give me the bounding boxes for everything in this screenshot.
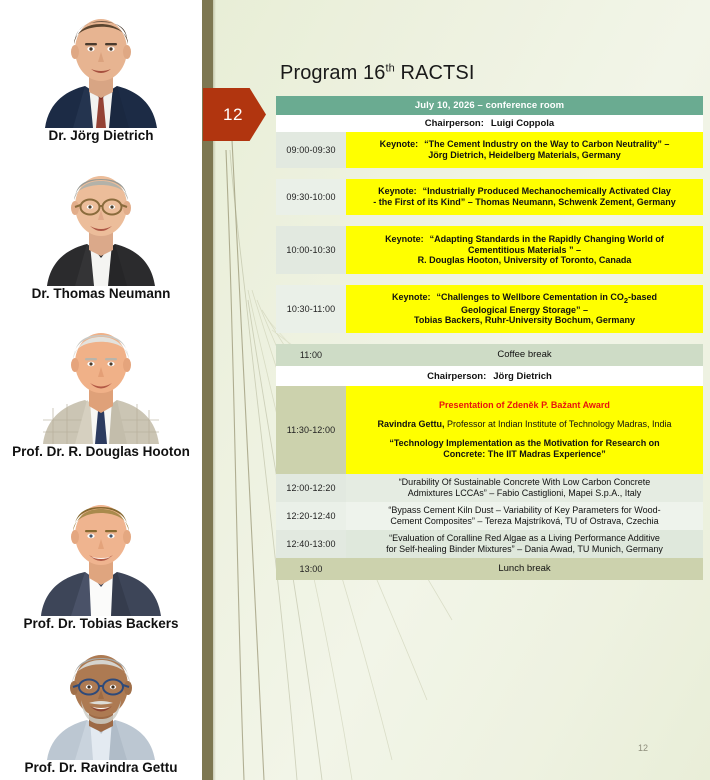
- time-cell: 12:20-12:40: [276, 502, 346, 530]
- portrait-tobias-backers: [33, 488, 169, 616]
- session-line-1: “The Cement Industry on the Way to Carbo…: [424, 139, 669, 149]
- time-cell: 10:30-11:00: [276, 285, 346, 333]
- time-cell: 11:00: [276, 344, 346, 366]
- row-spacer: [276, 168, 703, 179]
- session-line-1-end: -based: [628, 292, 657, 302]
- time-cell: 09:30-10:00: [276, 179, 346, 215]
- chairperson-1-name: Luigi Coppola: [491, 118, 554, 129]
- slide-number-badge-label: 12: [223, 105, 243, 125]
- slide-canvas: 12 Program 16th RACTSI July 10, 2026 – c…: [0, 0, 710, 780]
- time-cell: 11:30-12:00: [276, 386, 346, 474]
- table-row: 12:00-12:20 “Durability Of Sustainable C…: [276, 474, 703, 502]
- chairperson-1-cell: Chairperson:Luigi Coppola: [276, 115, 703, 132]
- speaker-column: Dr. Jörg Dietrich: [0, 0, 202, 780]
- session-line-1: “Industrially Produced Mechanochemically…: [423, 186, 671, 196]
- speaker-name: Prof. Dr. Tobias Backers: [0, 616, 202, 631]
- award-person-name: Ravindra Gettu,: [378, 419, 445, 429]
- portrait-thomas-neumann: [33, 158, 169, 286]
- talk-line-2: for Self-healing Binder Mixtures” – Dani…: [386, 544, 663, 554]
- table-row-day-header: July 10, 2026 – conference room: [276, 96, 703, 115]
- award-talk-line-2: Concrete: The IIT Madras Experience”: [443, 449, 606, 459]
- chairperson-label: Chairperson:: [425, 118, 484, 129]
- speaker-name: Prof. Dr. R. Douglas Hooton: [0, 444, 202, 459]
- talk-line-2: Admixtures LCCAs” – Fabio Castiglioni, M…: [408, 488, 642, 498]
- table-row-coffee-break: 11:00 Coffee break: [276, 344, 703, 366]
- table-row-award: 11:30-12:00 Presentation of Zdeněk P. Ba…: [276, 386, 703, 474]
- time-cell: 13:00: [276, 558, 346, 580]
- speaker-name: Prof. Dr. Ravindra Gettu: [0, 760, 202, 775]
- award-talk-line-1: “Technology Implementation as the Motiva…: [389, 438, 659, 448]
- speaker-name: Dr. Jörg Dietrich: [0, 128, 202, 143]
- session-line-2: Cementitious Materials ” –: [468, 245, 581, 255]
- talk-cell: “Durability Of Sustainable Concrete With…: [346, 474, 703, 502]
- table-row: 12:40-13:00 “Evaluation of Coralline Red…: [276, 530, 703, 558]
- speaker-card: Prof. Dr. Ravindra Gettu: [0, 642, 202, 775]
- session-cell: Keynote:“The Cement Industry on the Way …: [346, 132, 703, 168]
- chairperson-2-cell: Chairperson:Jörg Dietrich: [276, 366, 703, 386]
- award-cell: Presentation of Zdeněk P. Bažant Award R…: [346, 386, 703, 474]
- keynote-label: Keynote:: [380, 139, 419, 150]
- page-number: 12: [638, 743, 648, 753]
- chairperson-2-name: Jörg Dietrich: [493, 371, 552, 382]
- session-cell: Keynote:“Challenges to Wellbore Cementat…: [346, 285, 703, 333]
- page-title: Program 16th RACTSI: [280, 62, 474, 85]
- keynote-label: Keynote:: [385, 234, 424, 245]
- row-spacer: [276, 215, 703, 226]
- portrait-ravindra-gettu: [33, 642, 169, 760]
- page-title-ordinal: th: [386, 62, 395, 74]
- award-person: Ravindra Gettu, Professor at Indian Inst…: [354, 419, 695, 430]
- table-row: 10:00-10:30 Keynote:“Adapting Standards …: [276, 226, 703, 274]
- speaker-card: Prof. Dr. R. Douglas Hooton: [0, 316, 202, 459]
- session-cell: Keynote:“Adapting Standards in the Rapid…: [346, 226, 703, 274]
- time-cell: 12:00-12:20: [276, 474, 346, 502]
- keynote-label: Keynote:: [378, 186, 417, 197]
- award-title: Presentation of Zdeněk P. Bažant Award: [354, 400, 695, 411]
- chairperson-label: Chairperson:: [427, 371, 486, 382]
- talk-cell: “Evaluation of Coralline Red Algae as a …: [346, 530, 703, 558]
- row-spacer: [276, 333, 703, 344]
- keynote-label: Keynote:: [392, 292, 431, 303]
- break-cell: Coffee break: [346, 344, 703, 366]
- time-cell: 10:00-10:30: [276, 226, 346, 274]
- speaker-card: Prof. Dr. Tobias Backers: [0, 488, 202, 631]
- session-line-1: “Adapting Standards in the Rapidly Chang…: [430, 234, 664, 244]
- page-title-main: Program 16: [280, 62, 386, 84]
- session-line-2: Jörg Dietrich, Heidelberg Materials, Ger…: [428, 150, 621, 160]
- talk-cell: “Bypass Cement Kiln Dust – Variability o…: [346, 502, 703, 530]
- table-row: 09:30-10:00 Keynote:“Industrially Produc…: [276, 179, 703, 215]
- table-row-lunch-break: 13:00 Lunch break: [276, 558, 703, 580]
- session-line-3: Tobias Backers, Ruhr-University Bochum, …: [414, 315, 635, 325]
- time-cell: 12:40-13:00: [276, 530, 346, 558]
- talk-line-1: “Durability Of Sustainable Concrete With…: [399, 477, 651, 487]
- talk-line-2: Cement Composites” – Tereza Majstríková,…: [390, 516, 658, 526]
- row-spacer: [276, 274, 703, 285]
- session-line-2: Geological Energy Storage” –: [461, 305, 588, 315]
- table-row: 09:00-09:30 Keynote:“The Cement Industry…: [276, 132, 703, 168]
- session-line-2: - the First of its Kind” – Thomas Neuman…: [373, 197, 676, 207]
- table-row: 12:20-12:40 “Bypass Cement Kiln Dust – V…: [276, 502, 703, 530]
- time-cell: 09:00-09:30: [276, 132, 346, 168]
- speaker-card: Dr. Thomas Neumann: [0, 158, 202, 301]
- award-talk: “Technology Implementation as the Motiva…: [354, 438, 695, 460]
- portrait-jorg-dietrich: [33, 0, 169, 128]
- schedule-table: July 10, 2026 – conference room Chairper…: [276, 96, 703, 580]
- table-row-chairperson-1: Chairperson:Luigi Coppola: [276, 115, 703, 132]
- page-title-rest: RACTSI: [395, 62, 475, 84]
- table-row-chairperson-2: Chairperson:Jörg Dietrich: [276, 366, 703, 386]
- session-cell: Keynote:“Industrially Produced Mechanoch…: [346, 179, 703, 215]
- speaker-card: Dr. Jörg Dietrich: [0, 0, 202, 143]
- table-row: 10:30-11:00 Keynote:“Challenges to Wellb…: [276, 285, 703, 333]
- talk-line-1: “Evaluation of Coralline Red Algae as a …: [389, 533, 660, 543]
- talk-line-1: “Bypass Cement Kiln Dust – Variability o…: [388, 505, 660, 515]
- session-line-3: R. Douglas Hooton, University of Toronto…: [418, 255, 632, 265]
- portrait-douglas-hooton: [33, 316, 169, 444]
- day-header-cell: July 10, 2026 – conference room: [276, 96, 703, 115]
- session-line-1: “Challenges to Wellbore Cementation in C…: [436, 292, 623, 302]
- break-cell: Lunch break: [346, 558, 703, 580]
- speaker-name: Dr. Thomas Neumann: [0, 286, 202, 301]
- award-person-affiliation: Professor at Indian Institute of Technol…: [445, 419, 672, 429]
